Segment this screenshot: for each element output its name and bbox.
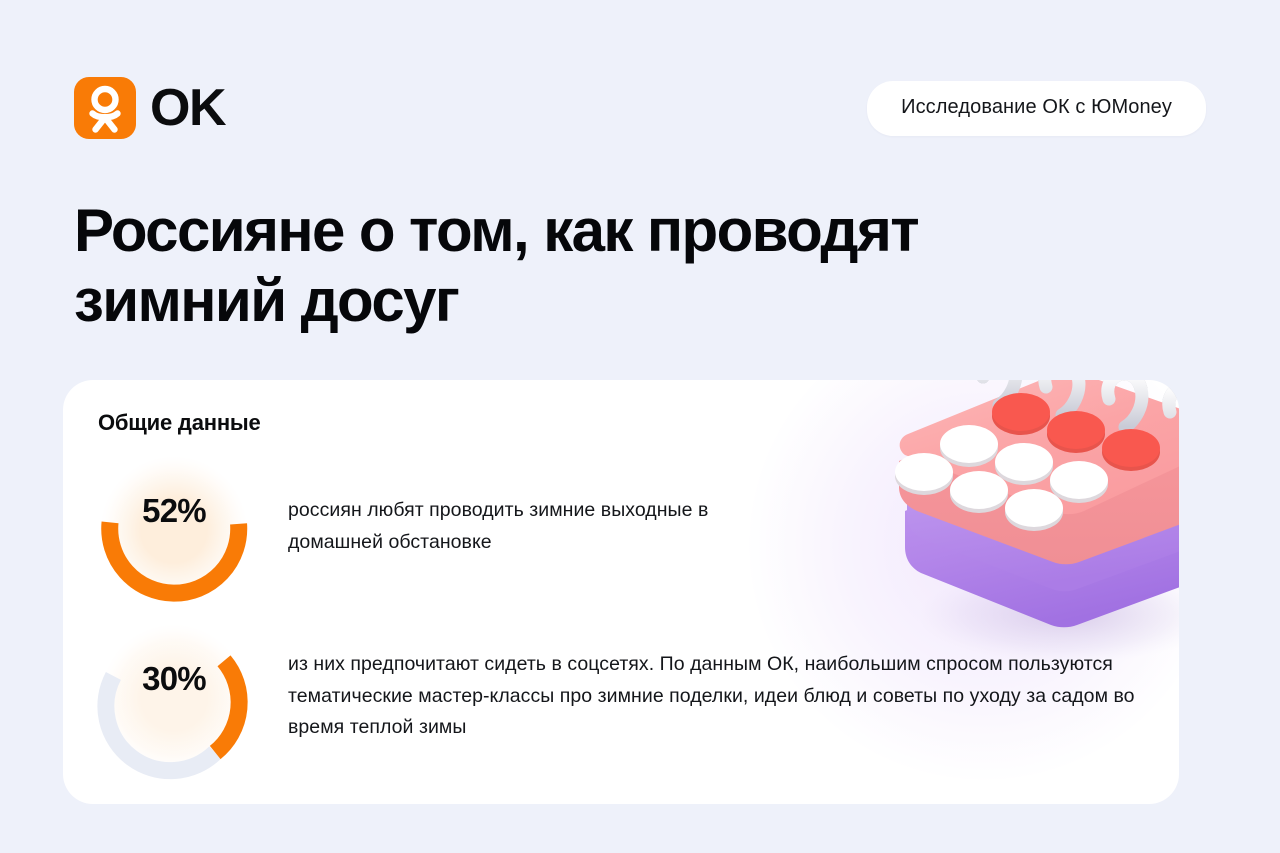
donut-chart-52: 52% <box>98 475 250 585</box>
brand-wordmark: OK <box>150 82 225 134</box>
page-title-line-2: зимний досуг <box>74 267 458 334</box>
calendar-3d-illustration <box>863 380 1179 675</box>
donut-value-30: 30% <box>98 660 250 698</box>
donut-value-52: 52% <box>98 492 250 530</box>
stat-text-30: из них предпочитают сидеть в соцсетях. П… <box>288 643 1179 744</box>
stat-row-30: 30% из них предпочитают сидеть в соцсетя… <box>98 643 1179 753</box>
page-title-line-1: Россияне о том, как проводят <box>74 197 918 264</box>
donut-chart-30: 30% <box>98 643 250 753</box>
brand-logo: OK <box>74 77 225 139</box>
stat-text-52: россиян любят проводить зимние выходные … <box>288 475 788 558</box>
study-badge: Исследование ОК с ЮMoney <box>867 81 1206 136</box>
stat-row-52: 52% россиян любят проводить зимние выход… <box>98 475 788 585</box>
header: OK Исследование ОК с ЮMoney <box>74 78 1206 138</box>
ok-odnoklassniki-logo-icon <box>74 77 136 139</box>
infographic-page: OK Исследование ОК с ЮMoney Россияне о т… <box>0 0 1280 853</box>
page-title: Россияне о том, как проводят зимний досу… <box>74 196 1084 335</box>
general-data-card: Общие данные 52% <box>63 380 1179 804</box>
card-section-title: Общие данные <box>98 410 261 436</box>
